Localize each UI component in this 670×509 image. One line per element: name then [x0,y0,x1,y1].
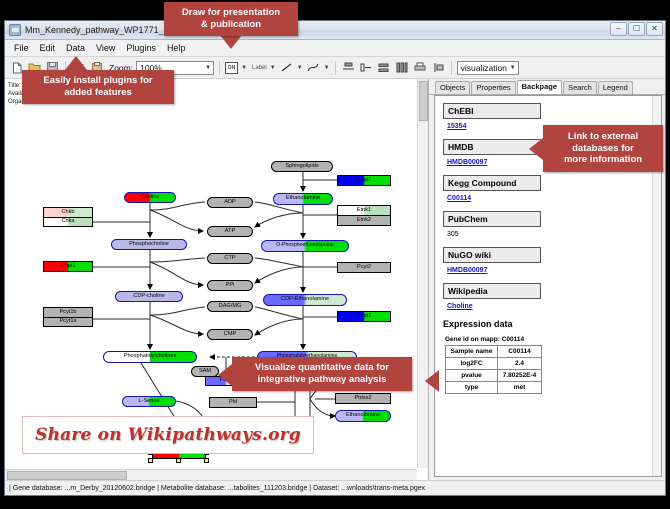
node-label: CDP-Ethanolamine [281,297,329,303]
node-ethanolamine-top[interactable]: Ethanolamine [273,193,333,205]
backpage-header-chebi: ChEBI [443,103,541,119]
node-label: L-Serine [138,399,159,405]
node-chkb[interactable]: Chkb [43,207,93,217]
node-ptdss2[interactable]: Ptdss2 [335,393,391,404]
node-pcyt2[interactable]: Pcyt2 [337,262,391,273]
callout-line-1: Visualize quantitative data for [255,362,389,374]
node-choline-top[interactable]: Choline [124,192,176,203]
cell-key: Sample name [446,346,498,358]
node-phosphocholine[interactable]: Phosphocholine [111,239,187,250]
scrollbar-thumb[interactable] [7,471,127,480]
backpage-link-wikipedia[interactable]: Choline [447,303,661,310]
node-label: Cept1 [357,314,372,320]
datanode-chevron-icon[interactable]: ▼ [241,65,247,71]
node-o-phosphoethanolamine[interactable]: O-Phosphoethanolamine [261,240,349,252]
callout-visualize-data: Visualize quantitative data for integrat… [232,357,412,391]
align-icon[interactable] [341,60,356,75]
callout-line-1: Easily install plugins for [43,75,152,87]
cell-value: 2.4 [498,358,542,370]
tab-properties[interactable]: Properties [471,81,515,94]
node-cdp-ethanolamine[interactable]: CDP-Ethanolamine [263,294,347,306]
node-label: Ethanolamine [286,196,320,202]
visualization-value: visualization [461,63,507,73]
node-pld[interactable]: Pld [209,397,257,408]
node-dag-mg[interactable]: DAG/MG [207,301,253,312]
menu-data[interactable]: Data [61,42,90,54]
canvas-vertical-scrollbar[interactable] [417,79,428,468]
tab-objects[interactable]: Objects [435,81,470,94]
expression-data-title: Expression data [443,319,661,329]
cell-value: met [498,382,542,394]
node-label: Chkb [61,210,74,216]
node-pcyt1a[interactable]: Pcyt1a [43,317,93,327]
screenshot-root: Mm_Kennedy_pathway_WP1771_45176.gpml – ☐… [0,0,670,509]
node-label: Etnk2 [357,218,371,224]
node-chpt1[interactable]: Chpt1 [43,261,93,272]
resize-handle-s[interactable] [176,458,181,463]
cell-value: C00114 [498,346,542,358]
backpage-header-hmdb: HMDB [443,139,541,155]
callout-line-1: Link to external [568,131,638,143]
node-label: ADP [224,200,236,206]
share-banner: Share on Wikipathways.org [22,416,314,454]
node-label: Sphingolipids [285,164,318,170]
share-banner-text: Share on Wikipathways.org [35,425,301,445]
application-icon [9,24,21,36]
node-label: CTP [224,256,235,262]
stack-icon[interactable] [377,60,392,75]
gene-id-on-mapp: Gene id on mapp: C00114 [445,336,661,343]
callout-external-links: Link to external databases for more info… [543,125,663,172]
menu-edit[interactable]: Edit [35,42,61,54]
maximize-button[interactable]: ☐ [628,22,645,36]
node-label: Pcyt1b [59,310,76,316]
backpage-header-wikipedia: Wikipedia [443,283,541,299]
menu-plugins[interactable]: Plugins [121,42,161,54]
shape-chevron-icon[interactable]: ▼ [324,65,330,71]
canvas-meta-title: Title: [8,83,21,89]
node-pcyt1b[interactable]: Pcyt1b [43,307,93,317]
toolbar-separator-4 [451,61,452,75]
node-chka[interactable]: Chka [43,217,93,227]
expression-data-table: Sample name C00114 log2FC 2.4 pvalue 7.8… [445,345,542,394]
status-bar: | Gene database: ...m_Derby_20120602.bri… [5,480,665,495]
callout-line-3: more information [564,154,642,166]
callout-line-2: databases for [572,143,634,155]
node-label: Phosphatidylcholines [124,354,177,360]
print-icon[interactable] [413,60,428,75]
node-label: PPi [226,283,235,289]
menu-file[interactable]: File [9,42,34,54]
cell-key: pvalue [446,370,498,382]
resize-handle-se[interactable] [204,458,209,463]
resize-handle-sw[interactable] [148,458,153,463]
node-ethanolamine-bottom[interactable]: Ethanolamine [335,410,391,422]
node-l-serine-left[interactable]: L-Serine [122,396,176,407]
order-icon[interactable] [431,60,446,75]
title-bar: Mm_Kennedy_pathway_WP1771_45176.gpml – ☐… [5,21,665,40]
node-atp[interactable]: ATP [207,226,253,237]
canvas-horizontal-scrollbar[interactable] [5,469,417,480]
menu-bar: File Edit Data View Plugins Help [5,40,665,57]
node-label: Pcyt1a [59,319,76,325]
backpage-value-pubchem: 305 [447,231,661,238]
node-label: Phosphocholine [129,242,169,248]
node-label: Pld [229,400,237,406]
callout-draw-for-publication: Draw for presentation & publication [164,2,298,36]
tab-search[interactable]: Search [563,81,597,94]
node-cdp-choline[interactable]: CDP-choline [115,291,183,302]
node-etnk2[interactable]: Etnk2 [337,215,391,226]
node-etnk1[interactable]: Etnk1 [337,205,391,215]
table-row: pvalue 7.80252E-4 [446,370,542,382]
backpage-link-kegg[interactable]: C00114 [447,195,661,202]
scrollbar-thumb[interactable] [419,81,428,121]
node-label: Sgpl1 [357,178,371,184]
chevron-down-icon: ▼ [205,65,211,71]
distribute-icon[interactable] [395,60,410,75]
node-label: SAM [199,369,211,375]
status-text: | Gene database: ...m_Derby_20120602.bri… [9,485,425,492]
line-chevron-icon[interactable]: ▼ [297,65,303,71]
node-cmp[interactable]: CMP [207,329,253,340]
node-label: DAG/MG [219,304,242,310]
node-label: Pcyt2 [357,265,371,271]
cell-value: 7.80252E-4 [498,370,542,382]
callout-arrow-plugins-icon [65,56,87,70]
node-label: Ethanolamine [346,413,380,419]
node-sgpl1[interactable]: Sgpl1 [337,175,391,186]
table-row: log2FC 2.4 [446,358,542,370]
label-chevron-icon[interactable]: ▼ [270,65,276,71]
panel-tab-strip: Objects Properties Backpage Search Legen… [429,79,665,95]
node-label: Etnk1 [357,208,371,214]
table-row: Sample name C00114 [446,346,542,358]
window-controls[interactable]: – ☐ ✕ [610,22,663,36]
node-label: CMP [224,332,236,338]
backpage-header-kegg: Kegg Compound [443,175,541,191]
node-adp[interactable]: ADP [207,197,253,208]
callout-line-2: integrative pathway analysis [258,374,387,386]
menu-view[interactable]: View [91,42,120,54]
node-ctp[interactable]: CTP [207,253,253,264]
node-cept1[interactable]: Cept1 [337,311,391,322]
callout-arrow-visualize-icon [218,364,232,386]
callout-arrow-links-icon [529,138,543,160]
toolbar-separator-2 [219,61,220,75]
node-label: Choline [141,195,160,201]
cell-key: log2FC [446,358,498,370]
line-tool-icon[interactable] [279,60,294,75]
backpage-link-nugowiki[interactable]: HMDB00097 [447,267,661,274]
node-sphingolipids[interactable]: Sphingolipids [271,161,333,172]
shape-tool-icon[interactable] [306,60,321,75]
datanode-icon[interactable]: DN [225,62,238,74]
node-label: O-Phosphoethanolamine [276,243,333,248]
node-label: Ptdss2 [354,396,371,402]
callout-line-2: & publication [201,19,261,31]
callout-line-1: Draw for presentation [182,7,280,19]
close-button[interactable]: ✕ [646,22,663,36]
menu-help[interactable]: Help [162,42,191,54]
group-icon[interactable] [359,60,374,75]
visualization-combo[interactable]: visualization ▼ [457,61,519,75]
backpage-header-nugowiki: NuGO wiki [443,247,541,263]
backpage-header-pubchem: PubChem [443,211,541,227]
node-label: ATP [225,229,235,235]
node-label: Chpt1 [61,264,76,270]
node-label: CDP-choline [133,294,164,300]
tab-backpage[interactable]: Backpage [517,80,562,94]
node-label: Chka [61,219,74,225]
minimize-button[interactable]: – [610,22,627,36]
node-ppi[interactable]: PPi [207,280,253,291]
callout-arrow-draw-icon [220,35,242,49]
callout-arrow-expression-icon [425,370,439,392]
cell-key: type [446,382,498,394]
label-tool-label[interactable]: Label [252,65,267,71]
visualization-chevron-icon: ▼ [510,65,516,71]
callout-install-plugins: Easily install plugins for added feature… [22,70,174,104]
callout-line-2: added features [64,87,132,99]
node-phosphatidylcholines[interactable]: Phosphatidylcholines [103,351,197,363]
tab-legend[interactable]: Legend [598,81,633,94]
toolbar-separator-3 [335,61,336,75]
table-row: type met [446,382,542,394]
